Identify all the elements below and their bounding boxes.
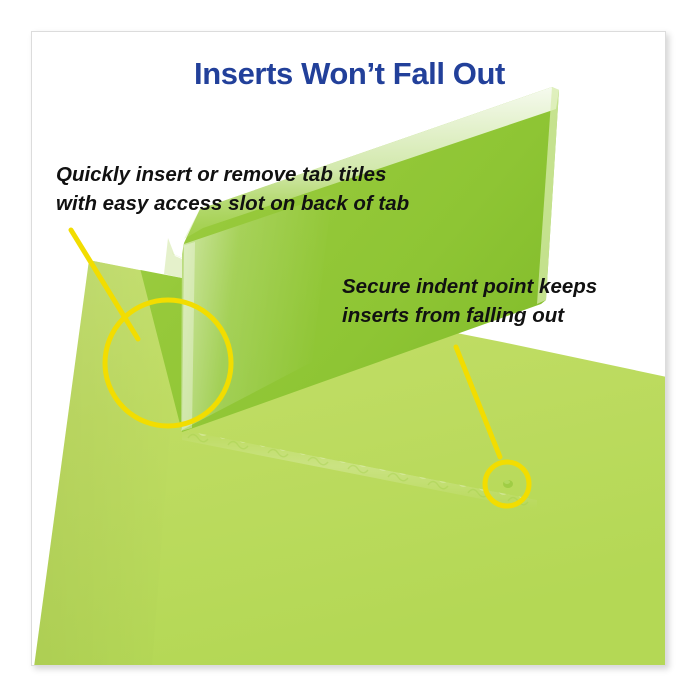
callout-line-1: Quickly insert or remove tab titles <box>56 160 409 189</box>
callout-text-indent-point: Secure indent point keeps inserts from f… <box>342 272 597 330</box>
callout-line-2: with easy access slot on back of tab <box>56 189 409 218</box>
callout-line-1: Secure indent point keeps <box>342 272 597 301</box>
indent-point-dimple <box>503 480 513 488</box>
image-frame: Inserts Won’t Fall Out Quickly insert or… <box>31 31 666 666</box>
page-title: Inserts Won’t Fall Out <box>32 56 666 92</box>
product-photo <box>32 32 666 666</box>
callout-text-access-slot: Quickly insert or remove tab titles with… <box>56 160 409 218</box>
callout-line-2: inserts from falling out <box>342 301 597 330</box>
product-feature-image: Inserts Won’t Fall Out Quickly insert or… <box>0 0 700 700</box>
